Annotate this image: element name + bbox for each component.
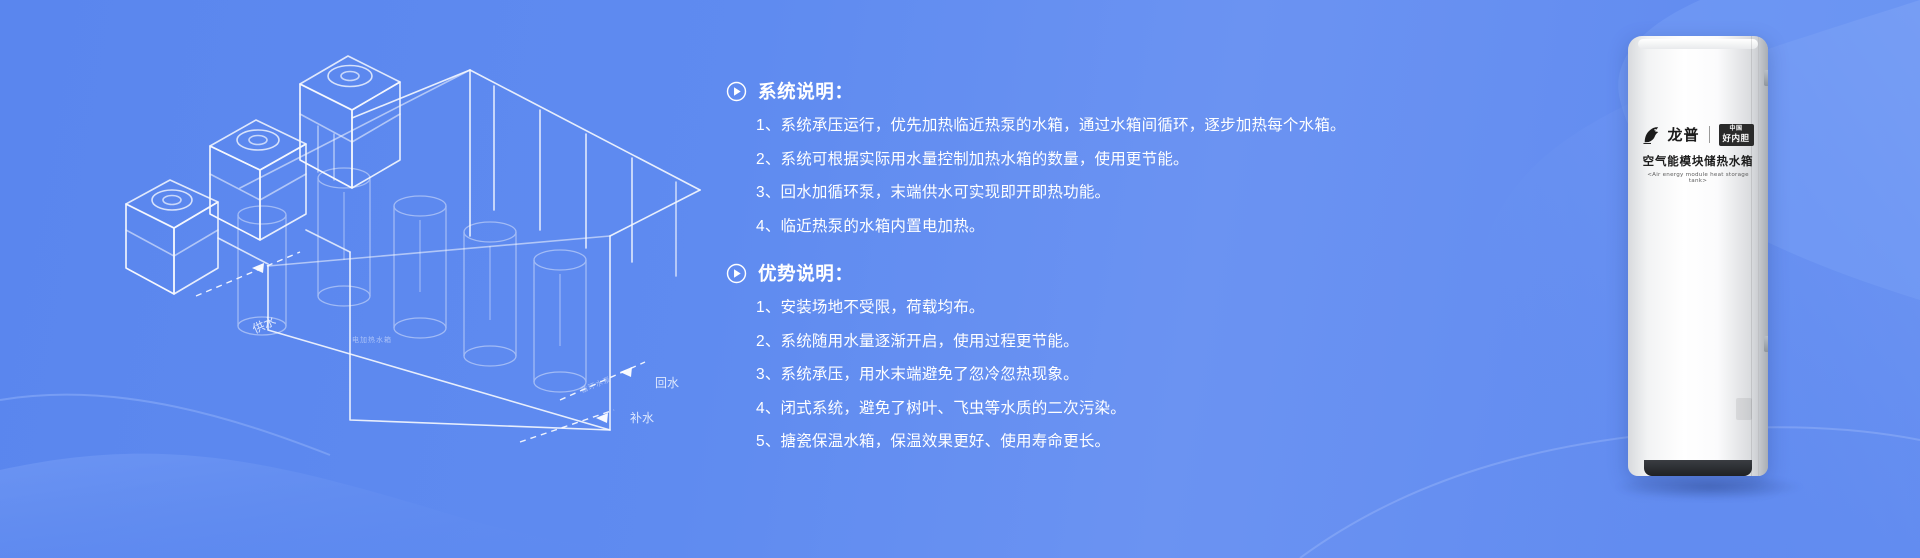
section-header: 系统说明： (726, 78, 1316, 104)
list-item: 4、闭式系统，避免了树叶、飞虫等水质的二次污染。 (756, 401, 1316, 417)
quality-badge: 中国 好内胆 (1719, 124, 1754, 146)
section-title: 优势说明： (758, 260, 854, 286)
diagram-label-makeup-water: 补水 (630, 409, 654, 426)
badge-top-text: 中国 (1730, 126, 1743, 133)
tank-port-upper (1764, 70, 1768, 86)
water-tank-body: 龙普 中国 好内胆 空气能模块储热水箱 <Air energy module h… (1628, 36, 1768, 476)
section-title: 系统说明： (758, 78, 854, 104)
advantage-description-list: 1、安装场地不受限，荷载均布。 2、系统随用水量逐渐开启，使用过程更节能。 3、… (726, 300, 1316, 450)
brand-row: 龙普 中国 好内胆 (1642, 124, 1754, 146)
list-item: 3、系统承压，用水末端避免了忽冷忽热现象。 (756, 367, 1316, 383)
tank-shadow (1614, 474, 1804, 500)
longpu-bird-icon (1642, 125, 1660, 145)
product-banner: 供水 回水 补水 电加热水箱 循环水泵 系统说明： 1、系统承压运行，优先加热临… (0, 0, 1920, 558)
system-description-list: 1、系统承压运行，优先加热临近热泵的水箱，通过水箱间循环，逐步加热每个水箱。 2… (726, 118, 1316, 234)
tank-side-panel (1759, 36, 1768, 476)
list-item: 2、系统可根据实际用水量控制加热水箱的数量，使用更节能。 (756, 152, 1316, 168)
list-item: 3、回水加循环泵，末端供水可实现即开即热功能。 (756, 185, 1316, 201)
description-column: 系统说明： 1、系统承压运行，优先加热临近热泵的水箱，通过水箱间循环，逐步加热每… (726, 78, 1316, 460)
diagram-label-return-water: 回水 (655, 374, 679, 391)
tank-top-cap (1638, 39, 1758, 49)
badge-main-text: 好内胆 (1723, 134, 1750, 144)
list-item: 1、系统承压运行，优先加热临近热泵的水箱，通过水箱间循环，逐步加热每个水箱。 (756, 118, 1316, 134)
product-name-en: <Air energy module heat storage tank> (1642, 172, 1754, 184)
section-advantage-description: 优势说明： 1、安装场地不受限，荷载均布。 2、系统随用水量逐渐开启，使用过程更… (726, 260, 1316, 450)
tank-branding: 龙普 中国 好内胆 空气能模块储热水箱 <Air energy module h… (1642, 124, 1754, 184)
tank-spec-label (1736, 398, 1752, 420)
section-system-description: 系统说明： 1、系统承压运行，优先加热临近热泵的水箱，通过水箱间循环，逐步加热每… (726, 78, 1316, 234)
tank-base (1644, 460, 1752, 476)
system-diagram: 供水 回水 补水 电加热水箱 循环水泵 (0, 0, 720, 558)
brand-divider (1709, 126, 1710, 143)
play-circle-icon (726, 263, 747, 284)
system-diagram-lines (0, 0, 720, 558)
list-item: 2、系统随用水量逐渐开启，使用过程更节能。 (756, 334, 1316, 350)
product-image: 龙普 中国 好内胆 空气能模块储热水箱 <Air energy module h… (1606, 22, 1816, 532)
list-item: 1、安装场地不受限，荷载均布。 (756, 300, 1316, 316)
list-item: 4、临近热泵的水箱内置电加热。 (756, 219, 1316, 235)
tank-port-lower (1764, 336, 1768, 352)
brand-name: 龙普 (1667, 124, 1699, 145)
section-header: 优势说明： (726, 260, 1316, 286)
section-spacer (726, 244, 1316, 260)
diagram-label-electric-tank: 电加热水箱 (352, 335, 392, 345)
tank-seam-line-secondary (1758, 36, 1759, 476)
product-name-cn: 空气能模块储热水箱 (1642, 153, 1754, 169)
list-item: 5、搪瓷保温水箱，保温效果更好、使用寿命更长。 (756, 434, 1316, 450)
play-circle-icon (726, 81, 747, 102)
